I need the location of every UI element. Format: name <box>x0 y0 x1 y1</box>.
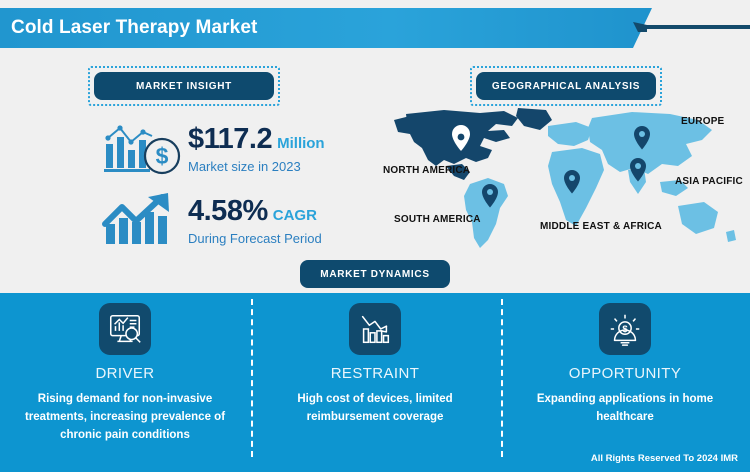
lightbulb-dollar-icon: $ <box>599 303 651 355</box>
map-label-south-america: SOUTH AMERICA <box>394 214 481 225</box>
map-label-north-america: NORTH AMERICA <box>383 165 470 176</box>
bar-chart-dollar-icon: $ <box>100 118 182 178</box>
opportunity-title: OPPORTUNITY <box>569 365 681 382</box>
market-size-caption: Market size in 2023 <box>188 159 325 174</box>
market-size-unit: Million <box>277 135 325 152</box>
page-title: Cold Laser Therapy Market <box>0 17 257 39</box>
restraint-description: High cost of devices, limited reimbursem… <box>265 391 485 427</box>
declining-bar-chart-icon <box>349 303 401 355</box>
svg-text:$: $ <box>622 324 628 335</box>
stat-market-size-text: $117.2 Million Market size in 2023 <box>188 123 325 174</box>
dynamics-column-driver: DRIVER Rising demand for non-invasive tr… <box>0 303 250 444</box>
market-dynamics-pill-label: MARKET DYNAMICS <box>320 269 429 280</box>
world-map: NORTH AMERICA SOUTH AMERICA EUROPE ASIA … <box>392 108 750 256</box>
map-label-asia-pacific: ASIA PACIFIC <box>675 176 743 187</box>
cagr-caption: During Forecast Period <box>188 231 322 246</box>
restraint-title: RESTRAINT <box>331 365 420 382</box>
market-insight-pill-label: MARKET INSIGHT <box>136 81 232 92</box>
region-new-zealand <box>726 230 736 242</box>
region-greenland <box>516 108 552 130</box>
growth-arrow-icon <box>100 190 182 250</box>
region-europe <box>548 122 592 146</box>
geographical-analysis-pill-label: GEOGRAPHICAL ANALYSIS <box>492 81 640 92</box>
market-size-value: $117.2 <box>188 123 272 156</box>
cagr-unit: CAGR <box>273 207 317 224</box>
stat-cagr-text: 4.58% CAGR During Forecast Period <box>188 195 322 246</box>
stat-cagr: 4.58% CAGR During Forecast Period <box>100 190 322 250</box>
header-banner: Cold Laser Therapy Market <box>0 8 652 48</box>
driver-title: DRIVER <box>95 365 154 382</box>
stat-market-size: $ $117.2 Million Market size in 2023 <box>100 118 325 178</box>
market-dynamics-band: DRIVER Rising demand for non-invasive tr… <box>0 293 750 472</box>
map-label-middle-east-africa: MIDDLE EAST & AFRICA <box>540 221 662 232</box>
market-dynamics-pill: MARKET DYNAMICS <box>300 260 450 288</box>
driver-description: Rising demand for non-invasive treatment… <box>15 391 235 444</box>
copyright-note: All Rights Reserved To 2024 IMR <box>591 453 738 464</box>
region-australia <box>678 202 718 234</box>
header-rule <box>641 25 750 29</box>
dynamics-column-restraint: RESTRAINT High cost of devices, limited … <box>250 303 500 427</box>
market-insight-pill-body: MARKET INSIGHT <box>94 72 274 100</box>
dynamics-column-opportunity: $ OPPORTUNITY Expanding applications in … <box>500 303 750 427</box>
monitor-analytics-search-icon <box>99 303 151 355</box>
svg-text:$: $ <box>156 143 169 169</box>
infographic-canvas: Cold Laser Therapy Market MARKET INSIGHT <box>0 0 750 472</box>
map-label-europe: EUROPE <box>681 116 724 127</box>
header: Cold Laser Therapy Market <box>0 8 750 48</box>
geographical-analysis-pill: GEOGRAPHICAL ANALYSIS <box>470 66 662 106</box>
cagr-value: 4.58% <box>188 195 268 228</box>
market-insight-pill: MARKET INSIGHT <box>88 66 280 106</box>
opportunity-description: Expanding applications in home healthcar… <box>515 391 735 427</box>
geographical-analysis-pill-body: GEOGRAPHICAL ANALYSIS <box>476 72 656 100</box>
